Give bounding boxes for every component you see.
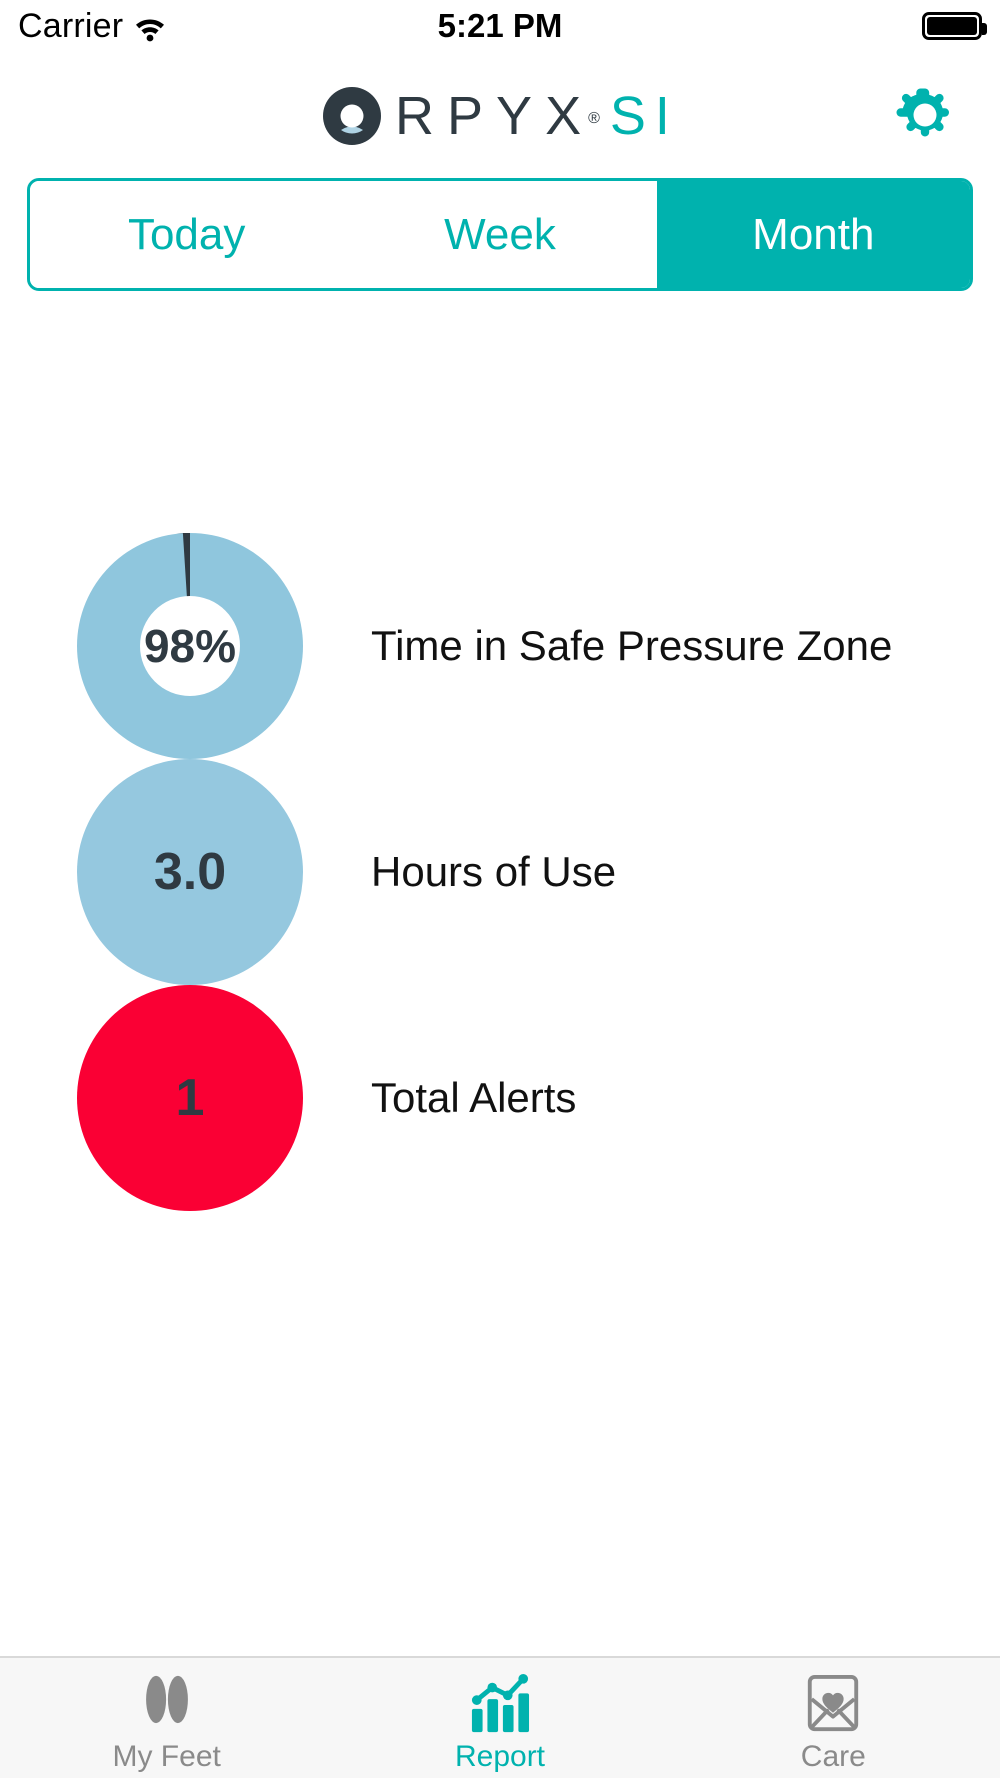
status-bar-clock: 5:21 PM	[0, 6, 1000, 46]
period-segmented-control[interactable]: Today Week Month	[27, 178, 973, 291]
metric-row-hours-of-use: 3.0 Hours of Use	[0, 759, 1000, 985]
metric-value-safe-pressure: 98%	[144, 619, 236, 673]
tab-label-report: Report	[455, 1740, 545, 1774]
tab-label-care: Care	[801, 1740, 866, 1774]
hours-of-use-disc: 3.0	[77, 759, 303, 985]
gear-icon[interactable]	[892, 84, 958, 150]
segment-month[interactable]: Month	[657, 181, 970, 288]
footprints-icon	[134, 1668, 200, 1734]
app-header: RPYX ® SI	[0, 62, 1000, 170]
hours-of-use-circle: 3.0	[77, 759, 303, 985]
tab-report[interactable]: Report	[333, 1658, 666, 1778]
metric-label-hours-of-use: Hours of Use	[371, 847, 616, 897]
logo-product-name: SI	[610, 85, 679, 147]
donut-center: 98%	[140, 596, 240, 696]
battery-level-fill	[927, 17, 977, 35]
logo-registered-mark: ®	[588, 110, 600, 128]
orpyx-logo: RPYX ® SI	[0, 62, 1000, 170]
metric-row-total-alerts: 1 Total Alerts	[0, 985, 1000, 1211]
battery-full-icon	[922, 12, 982, 40]
metrics-list: 98% Time in Safe Pressure Zone 3.0 Hours…	[0, 533, 1000, 1211]
tab-my-feet[interactable]: My Feet	[0, 1658, 333, 1778]
orpyx-circle-mark	[321, 85, 383, 147]
segment-today[interactable]: Today	[30, 181, 343, 288]
safe-pressure-donut-chart: 98%	[77, 533, 303, 759]
segment-week[interactable]: Week	[343, 181, 656, 288]
tab-care[interactable]: Care	[667, 1658, 1000, 1778]
metric-row-safe-pressure-zone: 98% Time in Safe Pressure Zone	[0, 533, 1000, 759]
metric-label-total-alerts: Total Alerts	[371, 1073, 576, 1123]
app-screen: Carrier 5:21 PM	[0, 0, 1000, 1778]
total-alerts-disc: 1	[77, 985, 303, 1211]
metric-label-safe-pressure: Time in Safe Pressure Zone	[371, 621, 892, 671]
logo-wordmark: RPYX	[395, 85, 594, 147]
status-bar-right	[922, 12, 982, 40]
total-alerts-circle: 1	[77, 985, 303, 1211]
status-bar: Carrier 5:21 PM	[0, 0, 1000, 62]
metric-value-total-alerts: 1	[176, 1068, 205, 1128]
tab-label-my-feet: My Feet	[112, 1740, 220, 1774]
metric-value-hours-of-use: 3.0	[154, 842, 226, 902]
envelope-heart-icon	[802, 1668, 864, 1734]
bar-chart-trend-icon	[465, 1668, 535, 1734]
bottom-tab-bar: My Feet Report	[0, 1656, 1000, 1778]
